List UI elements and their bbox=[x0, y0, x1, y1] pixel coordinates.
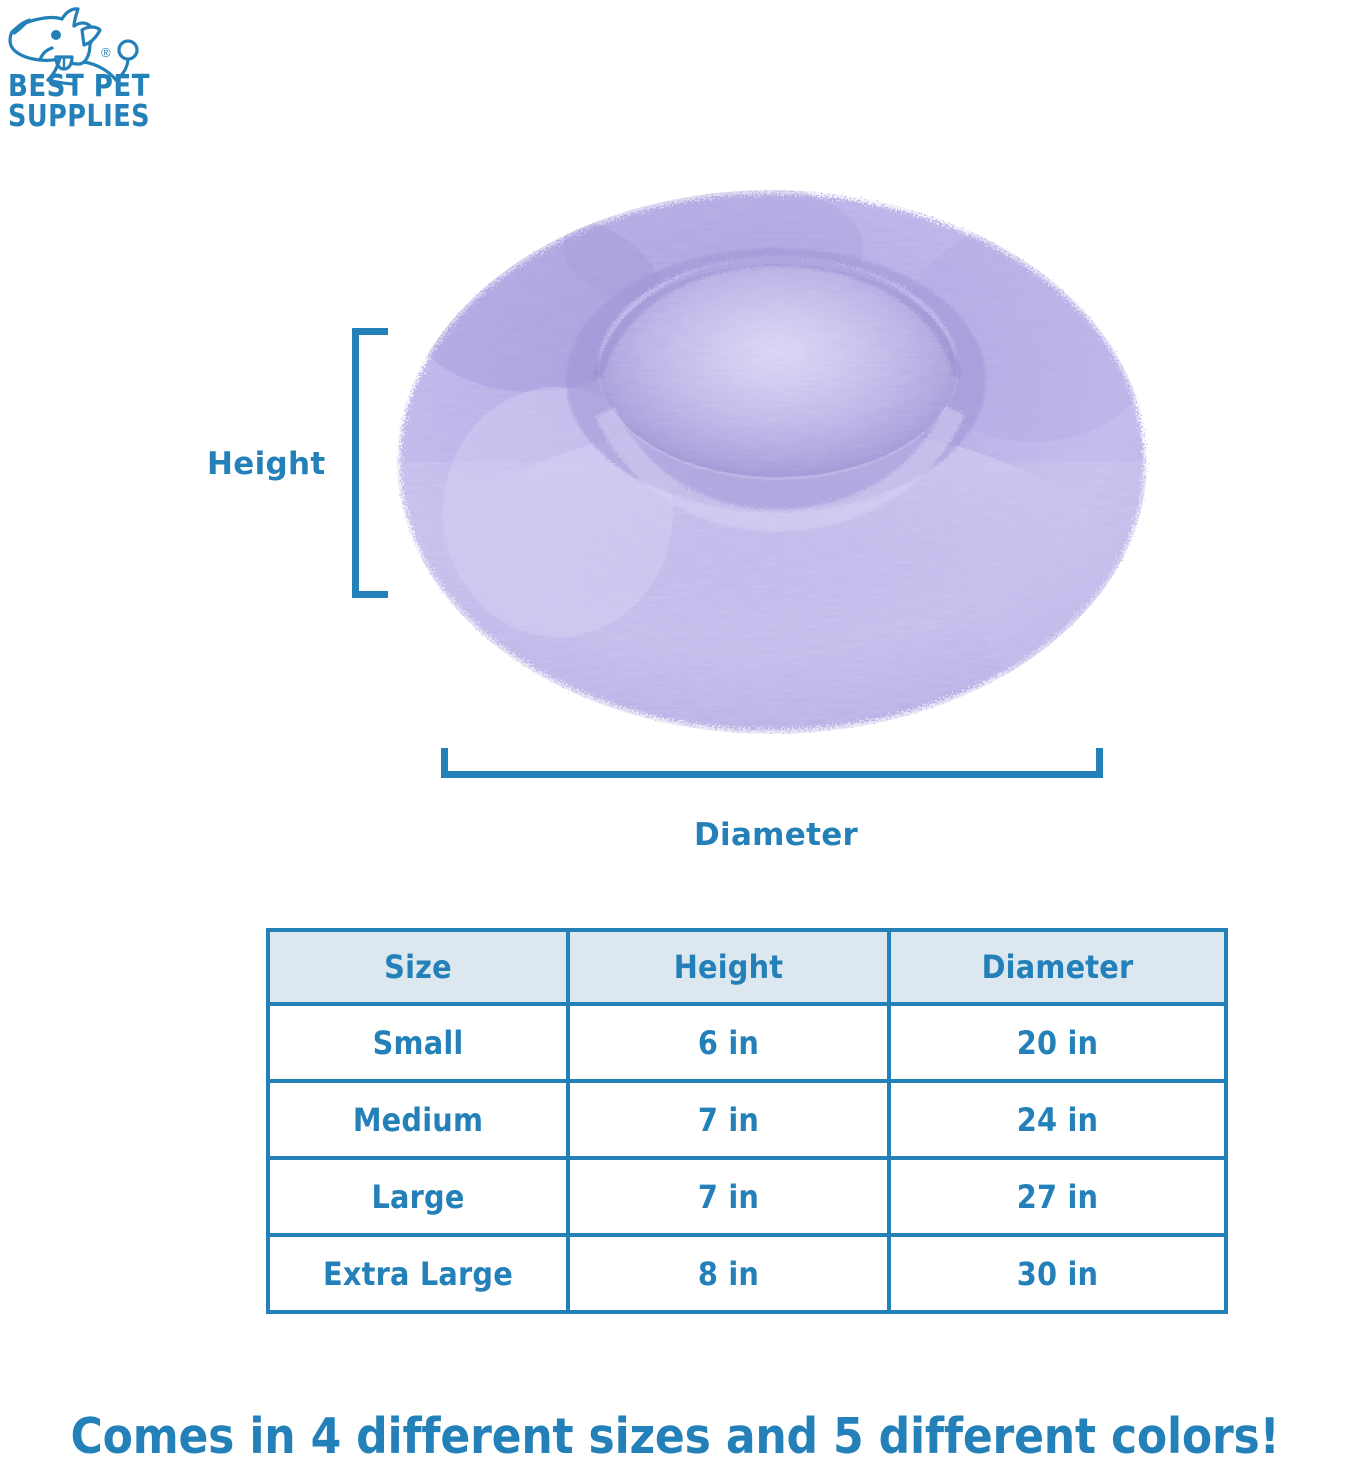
diameter-measurement-bracket bbox=[441, 748, 1103, 778]
cell-diameter: 30 in bbox=[889, 1235, 1226, 1312]
cell-height: 8 in bbox=[568, 1235, 889, 1312]
cell-size: Large bbox=[268, 1158, 568, 1235]
cell-diameter: 20 in bbox=[889, 1004, 1226, 1081]
height-measurement-bracket bbox=[352, 328, 388, 598]
bracket-cap-bottom bbox=[352, 591, 388, 598]
footer-tagline: Comes in 4 different sizes and 5 differe… bbox=[0, 1408, 1350, 1465]
cell-diameter: 27 in bbox=[889, 1158, 1226, 1235]
bracket-horizontal-line bbox=[441, 771, 1103, 778]
bracket-vertical-line bbox=[352, 328, 359, 598]
table-row: Extra Large 8 in 30 in bbox=[268, 1235, 1226, 1312]
cell-size: Extra Large bbox=[268, 1235, 568, 1312]
cell-size: Small bbox=[268, 1004, 568, 1081]
table-row: Small 6 in 20 in bbox=[268, 1004, 1226, 1081]
column-header-height: Height bbox=[568, 930, 889, 1004]
column-header-diameter: Diameter bbox=[889, 930, 1226, 1004]
registered-trademark-symbol: ® bbox=[101, 45, 111, 60]
table-row: Medium 7 in 24 in bbox=[268, 1081, 1226, 1158]
height-dimension-label: Height bbox=[207, 446, 325, 482]
brand-logo: ® BEST PET SUPPLIES bbox=[4, 2, 164, 130]
cell-diameter: 24 in bbox=[889, 1081, 1226, 1158]
cell-height: 7 in bbox=[568, 1081, 889, 1158]
diameter-dimension-label: Diameter bbox=[694, 817, 858, 853]
pet-bed-product-image bbox=[383, 162, 1161, 742]
cell-height: 7 in bbox=[568, 1158, 889, 1235]
cell-height: 6 in bbox=[568, 1004, 889, 1081]
logo-text-line2: SUPPLIES bbox=[8, 99, 150, 130]
bracket-cap-right bbox=[1096, 748, 1103, 778]
cell-size: Medium bbox=[268, 1081, 568, 1158]
size-chart-table: Size Height Diameter Small 6 in 20 in Me… bbox=[266, 928, 1228, 1314]
table-row: Large 7 in 27 in bbox=[268, 1158, 1226, 1235]
column-header-size: Size bbox=[268, 930, 568, 1004]
table-header-row: Size Height Diameter bbox=[268, 930, 1226, 1004]
